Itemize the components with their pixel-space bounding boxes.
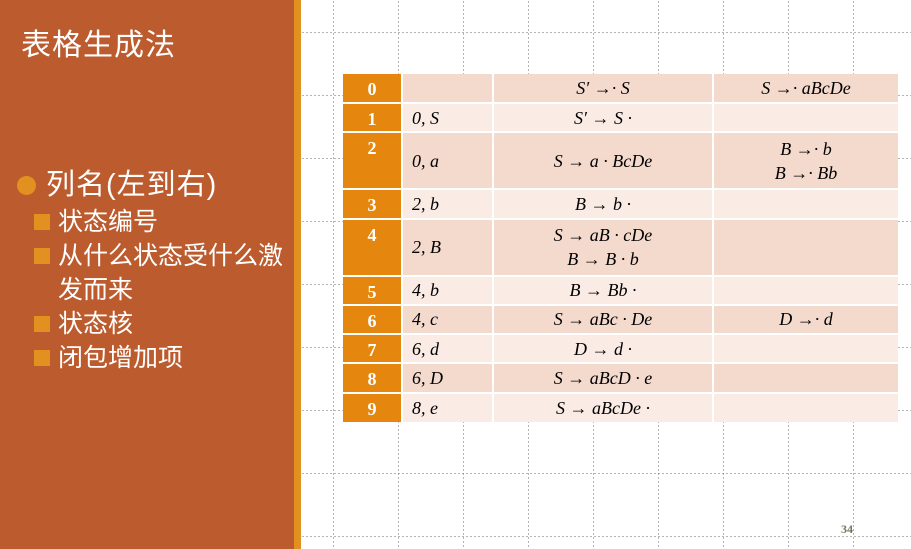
cell-from-state: 2, B bbox=[403, 220, 494, 277]
bullet-square-icon bbox=[34, 350, 50, 366]
cell-from-state: 8, e bbox=[403, 394, 494, 422]
bullet-item-3: 状态核 bbox=[14, 307, 296, 341]
bullet-square-icon bbox=[34, 214, 50, 230]
bullet-circle-icon bbox=[17, 176, 36, 195]
table-row: 10, SS′ → S · bbox=[343, 104, 898, 133]
cell-state-number: 9 bbox=[343, 394, 403, 422]
cell-state-number: 3 bbox=[343, 190, 403, 219]
bullet-item-label: 状态核 bbox=[58, 310, 133, 338]
cell-from-state bbox=[403, 74, 494, 104]
table-row: 0S′ →· SS →· aBcDe bbox=[343, 74, 898, 104]
bullet-item-1: 状态编号 bbox=[14, 205, 296, 239]
cell-closure-items bbox=[714, 394, 898, 422]
cell-state-kernel: S → aBcDe · bbox=[494, 394, 714, 422]
cell-state-kernel: S → aBcD · e bbox=[494, 364, 714, 393]
lr-item-table-body: 0S′ →· SS →· aBcDe10, SS′ → S ·20, aS → … bbox=[343, 74, 898, 422]
bullet-item-0: 列名(左到右) bbox=[14, 165, 296, 205]
cell-state-kernel: S → aBc · De bbox=[494, 306, 714, 335]
cell-from-state: 0, S bbox=[403, 104, 494, 133]
cell-state-kernel: S′ →· S bbox=[494, 74, 714, 104]
table-row: 32, bB → b · bbox=[343, 190, 898, 219]
cell-state-number: 7 bbox=[343, 335, 403, 364]
cell-from-state: 2, b bbox=[403, 190, 494, 219]
cell-state-kernel: S′ → S · bbox=[494, 104, 714, 133]
table-row: 42, BS → aB · cDeB → B · b bbox=[343, 220, 898, 277]
cell-closure-items bbox=[714, 104, 898, 133]
cell-from-state: 6, d bbox=[403, 335, 494, 364]
cell-closure-items bbox=[714, 364, 898, 393]
cell-from-state: 4, b bbox=[403, 277, 494, 306]
cell-from-state: 4, c bbox=[403, 306, 494, 335]
table-row: 54, bB → Bb · bbox=[343, 277, 898, 306]
bullet-list: 列名(左到右)状态编号从什么状态受什么激发而来状态核闭包增加项 bbox=[14, 165, 296, 375]
table-row: 20, aS → a · BcDeB →· bB →· Bb bbox=[343, 133, 898, 190]
bullet-item-2: 从什么状态受什么激发而来 bbox=[14, 239, 296, 307]
lr-item-table: 0S′ →· SS →· aBcDe10, SS′ → S ·20, aS → … bbox=[343, 74, 898, 422]
cell-closure-items: S →· aBcDe bbox=[714, 74, 898, 104]
cell-state-number: 6 bbox=[343, 306, 403, 335]
cell-from-state: 6, D bbox=[403, 364, 494, 393]
cell-state-kernel: S → a · BcDe bbox=[494, 133, 714, 190]
bullet-square-icon bbox=[34, 248, 50, 264]
table-row: 76, dD → d · bbox=[343, 335, 898, 364]
cell-closure-items bbox=[714, 335, 898, 364]
cell-closure-items bbox=[714, 190, 898, 219]
cell-closure-items: B →· bB →· Bb bbox=[714, 133, 898, 190]
page-title: 表格生成法 bbox=[21, 28, 281, 64]
bullet-square-icon bbox=[34, 316, 50, 332]
cell-state-number: 4 bbox=[343, 220, 403, 277]
page-number: 34 bbox=[841, 522, 853, 537]
cell-state-kernel: B → b · bbox=[494, 190, 714, 219]
cell-state-number: 5 bbox=[343, 277, 403, 306]
cell-state-number: 8 bbox=[343, 364, 403, 393]
cell-state-number: 1 bbox=[343, 104, 403, 133]
cell-state-number: 2 bbox=[343, 133, 403, 190]
table-row: 98, eS → aBcDe · bbox=[343, 394, 898, 422]
cell-state-kernel: B → Bb · bbox=[494, 277, 714, 306]
bullet-item-label: 状态编号 bbox=[58, 208, 158, 236]
bullet-item-label: 闭包增加项 bbox=[58, 344, 183, 372]
cell-closure-items bbox=[714, 277, 898, 306]
cell-state-number: 0 bbox=[343, 74, 403, 104]
slide-canvas: 表格生成法 列名(左到右)状态编号从什么状态受什么激发而来状态核闭包增加项 0S… bbox=[0, 0, 911, 549]
table-row: 64, cS → aBc · DeD →· d bbox=[343, 306, 898, 335]
cell-state-kernel: D → d · bbox=[494, 335, 714, 364]
cell-state-kernel: S → aB · cDeB → B · b bbox=[494, 220, 714, 277]
cell-from-state: 0, a bbox=[403, 133, 494, 190]
bullet-item-4: 闭包增加项 bbox=[14, 341, 296, 375]
table-row: 86, DS → aBcD · e bbox=[343, 364, 898, 393]
bullet-item-label: 列名(左到右) bbox=[46, 169, 217, 201]
cell-closure-items: D →· d bbox=[714, 306, 898, 335]
bullet-item-label: 从什么状态受什么激发而来 bbox=[58, 242, 283, 304]
cell-closure-items bbox=[714, 220, 898, 277]
